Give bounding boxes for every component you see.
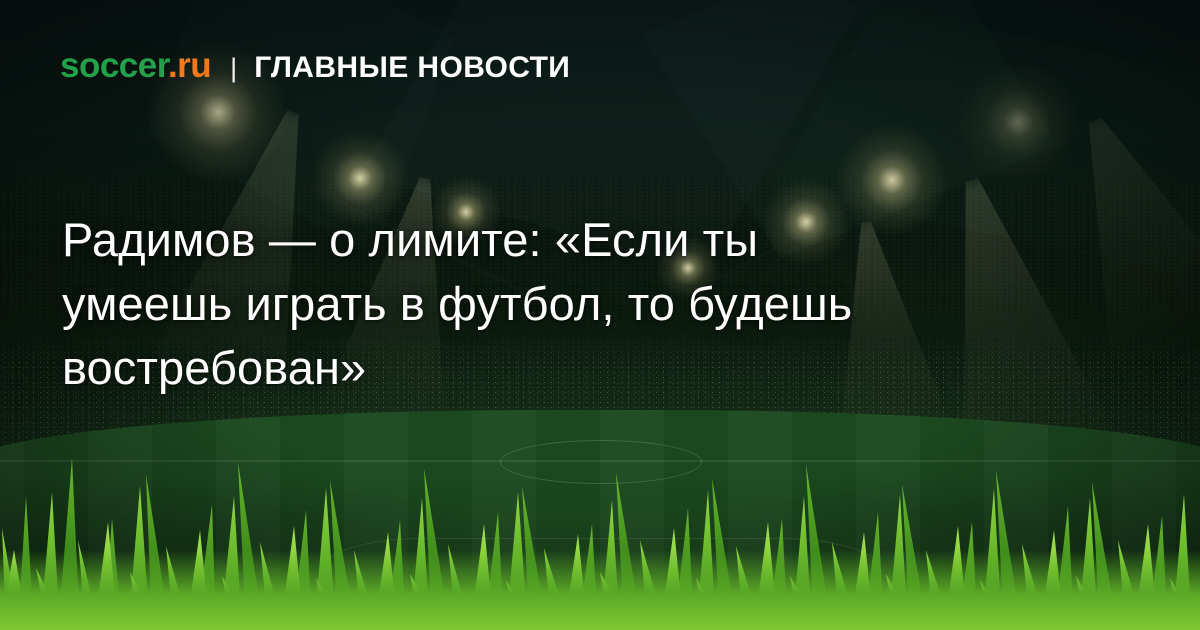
news-share-card: soccer.ru | ГЛАВНЫЕ НОВОСТИ Радимов — о … — [0, 0, 1200, 630]
headline: Радимов — о лимите: «Если ты умеешь игра… — [62, 208, 1132, 400]
logo-tld: .ru — [168, 46, 211, 85]
logo-word: soccer — [60, 46, 168, 85]
site-header: soccer.ru | ГЛАВНЫЕ НОВОСТИ — [60, 48, 570, 83]
headline-line: Радимов — о лимите: «Если ты — [62, 208, 1132, 272]
soccer-ru-logo[interactable]: soccer.ru — [60, 48, 211, 83]
headline-line: востребован» — [62, 336, 1132, 400]
header-divider: | — [230, 55, 237, 82]
headline-line: умеешь играть в футбол, то будешь — [62, 272, 1132, 336]
section-title: ГЛАВНЫЕ НОВОСТИ — [254, 53, 570, 83]
